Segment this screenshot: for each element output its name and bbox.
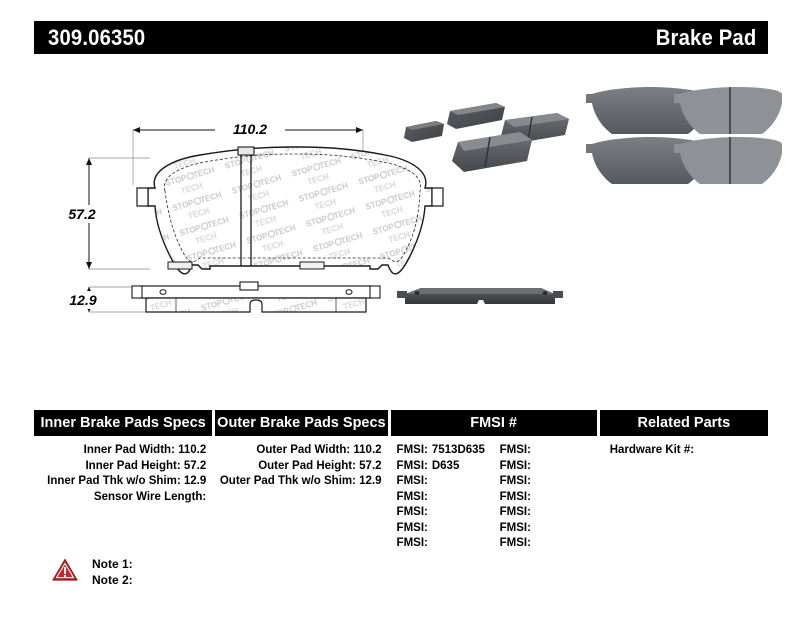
pad-edge-view: [132, 282, 380, 312]
spec-label: Outer Pad Width:: [256, 444, 350, 456]
notes-list: Note 1: Note 2:: [92, 556, 133, 588]
fmsi-row: FMSI:: [500, 459, 597, 475]
inner-specs-cell: Inner Pad Width: 110.2 Inner Pad Height:…: [34, 436, 212, 505]
fmsi-row: FMSI:: [397, 536, 494, 552]
fmsi-label: FMSI:: [500, 506, 531, 518]
table-header-row: Inner Brake Pads Specs Outer Brake Pads …: [34, 410, 768, 436]
note-line-1: Note 1:: [92, 556, 133, 572]
fmsi-row: FMSI:: [500, 474, 597, 490]
fmsi-row: FMSI:: [500, 443, 597, 459]
table-body-row: Inner Pad Width: 110.2 Inner Pad Height:…: [34, 436, 768, 552]
fmsi-value: D635: [428, 460, 460, 472]
spec-row: Outer Pad Height: 57.2: [215, 459, 387, 475]
related-parts-row: Hardware Kit #:: [600, 443, 768, 459]
fmsi-value: [428, 491, 432, 503]
fmsi-value: [428, 537, 432, 549]
product-type-label: Brake Pad: [655, 25, 756, 51]
fmsi-row: FMSI:: [500, 490, 597, 506]
specifications-table: Inner Brake Pads Specs Outer Brake Pads …: [34, 410, 768, 552]
related-parts-label: Hardware Kit #:: [610, 444, 694, 456]
fmsi-label: FMSI:: [397, 491, 428, 503]
pad-photo-perspective-2: [447, 103, 505, 129]
spec-row: Inner Pad Height: 57.2: [34, 459, 212, 475]
fmsi-row: FMSI:: [397, 521, 494, 537]
fmsi-column-right: FMSI: FMSI: FMSI: FMSI: FMSI: FMSI:: [494, 443, 597, 552]
spec-label: Inner Pad Height:: [85, 460, 180, 472]
pad-photo-perspective-1: [404, 121, 444, 142]
pad-photo-edge-view: [395, 278, 565, 326]
fmsi-value: [531, 444, 535, 456]
spec-value: 110.2: [178, 444, 206, 456]
fmsi-label: FMSI:: [397, 444, 428, 456]
fmsi-value: [531, 537, 535, 549]
part-number: 309.06350: [48, 25, 145, 51]
header-bar: 309.06350 Brake Pad: [34, 21, 768, 54]
fmsi-label: FMSI:: [397, 537, 428, 549]
spec-value: 57.2: [184, 460, 206, 472]
spec-value: 110.2: [353, 444, 381, 456]
dimension-height-label: 57.2: [68, 206, 95, 222]
spec-label: Outer Pad Height:: [258, 460, 356, 472]
fmsi-cell: FMSI:7513D635 FMSI:D635 FMSI: FMSI: FMSI…: [391, 436, 597, 552]
fmsi-value: [531, 460, 535, 472]
fmsi-row: FMSI:: [500, 505, 597, 521]
fmsi-label: FMSI:: [500, 444, 531, 456]
related-parts-cell: Hardware Kit #:: [600, 436, 768, 459]
fmsi-row: FMSI:: [397, 505, 494, 521]
spec-row: Inner Pad Width: 110.2: [34, 443, 212, 459]
warning-triangle-icon: [52, 558, 78, 582]
spec-value: 12.9: [184, 475, 206, 487]
pad-photo-perspective-4: [452, 132, 532, 172]
note-line-2: Note 2:: [92, 572, 133, 588]
fmsi-row: FMSI:: [397, 490, 494, 506]
fmsi-value: [531, 491, 535, 503]
fmsi-row: FMSI:7513D635: [397, 443, 494, 459]
spec-value: 12.9: [359, 475, 381, 487]
fmsi-label: FMSI:: [500, 475, 531, 487]
spec-row: Outer Pad Thk w/o Shim: 12.9: [215, 474, 387, 490]
fmsi-row: FMSI:D635: [397, 459, 494, 475]
fmsi-column-left: FMSI:7513D635 FMSI:D635 FMSI: FMSI: FMSI…: [391, 443, 494, 552]
fmsi-label: FMSI:: [500, 460, 531, 472]
fmsi-value: [531, 506, 535, 518]
spec-row: Inner Pad Thk w/o Shim: 12.9: [34, 474, 212, 490]
column-header-outer-specs: Outer Brake Pads Specs: [215, 410, 387, 436]
spec-label: Inner Pad Thk w/o Shim:: [47, 475, 181, 487]
fmsi-label: FMSI:: [397, 475, 428, 487]
column-header-inner-specs: Inner Brake Pads Specs: [34, 410, 212, 436]
fmsi-row: FMSI:: [397, 474, 494, 490]
notes-section: Note 1: Note 2:: [52, 556, 133, 588]
spec-row: Sensor Wire Length:: [34, 490, 212, 506]
dimension-width-label: 110.2: [233, 121, 267, 137]
fmsi-value: [531, 522, 535, 534]
fmsi-value: [428, 475, 432, 487]
spec-label: Outer Pad Thk w/o Shim:: [220, 475, 356, 487]
fmsi-value: [531, 475, 535, 487]
fmsi-label: FMSI:: [397, 506, 428, 518]
fmsi-label: FMSI:: [397, 522, 428, 534]
fmsi-label: FMSI:: [500, 537, 531, 549]
spec-value: 57.2: [359, 460, 381, 472]
fmsi-label: FMSI:: [500, 491, 531, 503]
column-header-fmsi: FMSI #: [391, 410, 597, 436]
product-photo-group: [392, 72, 782, 212]
fmsi-label: FMSI:: [397, 460, 428, 472]
fmsi-value: [428, 506, 432, 518]
spec-label: Sensor Wire Length:: [94, 491, 206, 503]
spec-row: Outer Pad Width: 110.2: [215, 443, 387, 459]
outer-specs-cell: Outer Pad Width: 110.2 Outer Pad Height:…: [215, 436, 387, 490]
column-header-related-parts: Related Parts: [600, 410, 768, 436]
fmsi-value: 7513D635: [428, 444, 485, 456]
fmsi-value: [428, 522, 432, 534]
fmsi-row: FMSI:: [500, 521, 597, 537]
spec-label: Inner Pad Width:: [84, 444, 175, 456]
dimension-thickness-label: 12.9: [69, 292, 96, 308]
fmsi-label: FMSI:: [500, 522, 531, 534]
fmsi-row: FMSI:: [500, 536, 597, 552]
